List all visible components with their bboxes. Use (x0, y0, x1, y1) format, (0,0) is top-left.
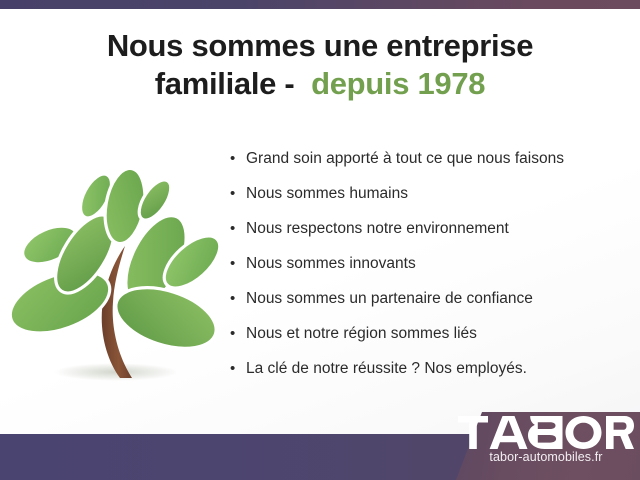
list-item: • Nous sommes humains (230, 183, 630, 218)
benefits-list: • Grand soin apporté à tout ce que nous … (230, 148, 630, 393)
list-item-label: Nous sommes innovants (246, 253, 416, 275)
list-item-label: Grand soin apporté à tout ce que nous fa… (246, 148, 564, 170)
bullet-marker-icon: • (230, 148, 246, 170)
bullet-marker-icon: • (230, 218, 246, 240)
page-title: Nous sommes une entreprise familiale - d… (0, 27, 640, 103)
bullet-marker-icon: • (230, 183, 246, 205)
list-item-label: Nous sommes un partenaire de confiance (246, 288, 533, 310)
title-line-1: Nous sommes une entreprise (0, 27, 640, 65)
list-item-label: Nous et notre région sommes liés (246, 323, 477, 345)
footer-bar-left (0, 434, 470, 480)
list-item: • Nous sommes innovants (230, 253, 630, 288)
list-item: • Nous sommes un partenaire de confiance (230, 288, 630, 323)
brand-url: tabor-automobiles.fr (458, 450, 634, 464)
list-item-label: Nous respectons notre environnement (246, 218, 509, 240)
list-item: • La clé de notre réussite ? Nos employé… (230, 358, 630, 393)
list-item: • Nous respectons notre environnement (230, 218, 630, 253)
tree-illustration (8, 150, 228, 395)
tabor-wordmark-icon (458, 416, 634, 449)
bullet-marker-icon: • (230, 253, 246, 275)
brand-logo: tabor-automobiles.fr (458, 416, 634, 464)
slide-canvas: Nous sommes une entreprise familiale - d… (0, 0, 640, 480)
bullet-marker-icon: • (230, 323, 246, 345)
list-item: • Nous et notre région sommes liés (230, 323, 630, 358)
list-item: • Grand soin apporté à tout ce que nous … (230, 148, 630, 183)
top-accent-bar (0, 0, 640, 9)
list-item-label: Nous sommes humains (246, 183, 408, 205)
title-line-2-dark: familiale - (155, 66, 311, 101)
title-line-2-accent: depuis 1978 (311, 66, 485, 101)
list-item-label: La clé de notre réussite ? Nos employés. (246, 358, 527, 380)
title-line-2: familiale - depuis 1978 (0, 65, 640, 103)
bullet-marker-icon: • (230, 358, 246, 380)
bullet-marker-icon: • (230, 288, 246, 310)
